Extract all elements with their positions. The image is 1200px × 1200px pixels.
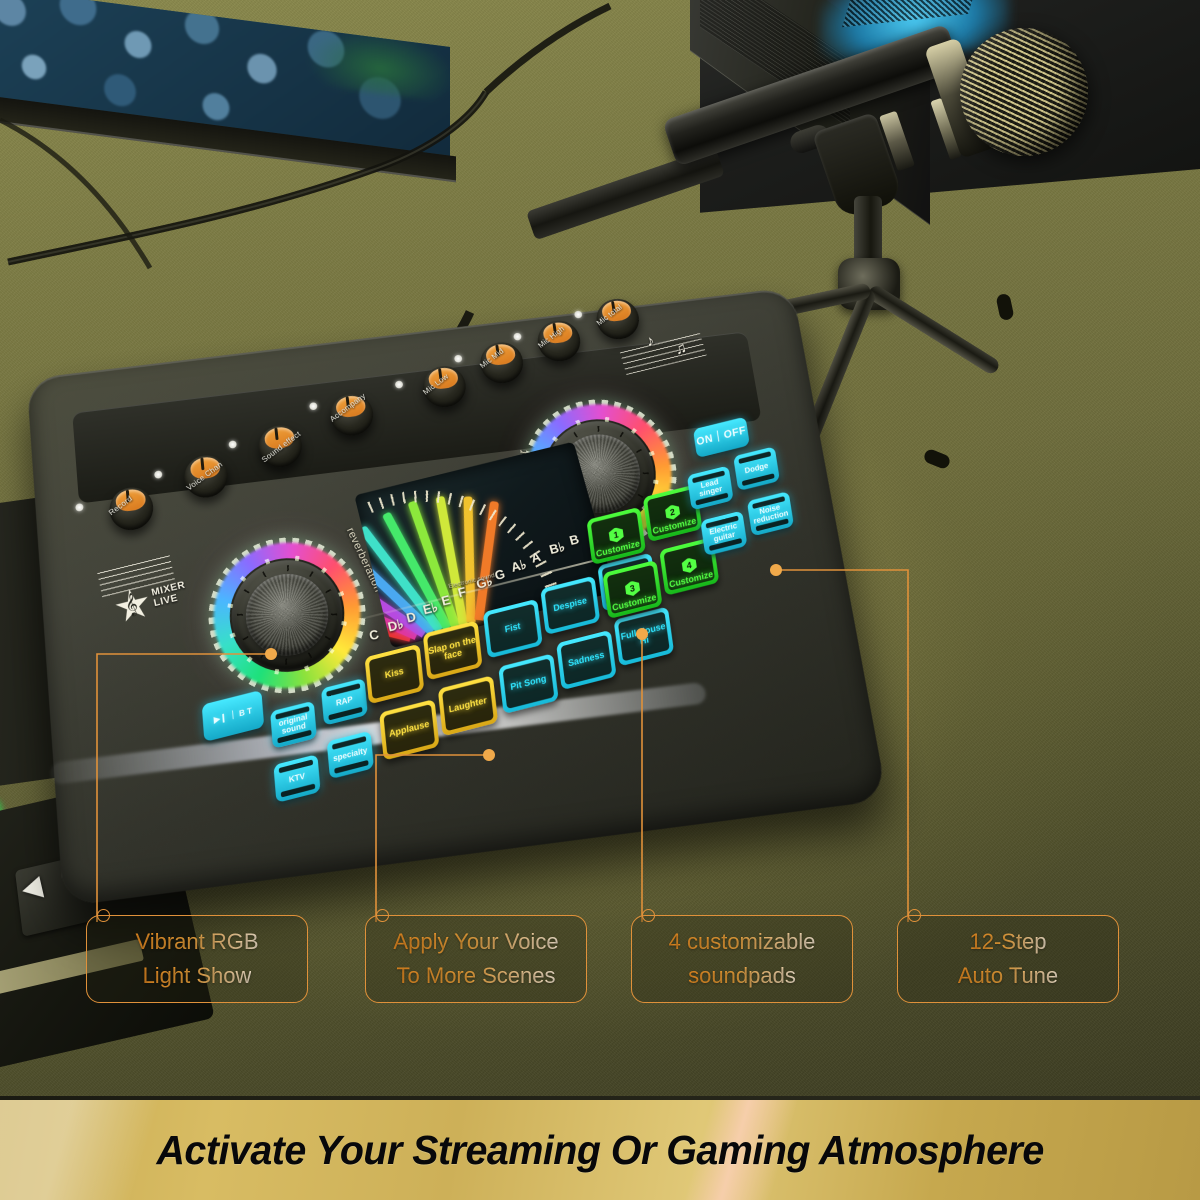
note-label: D♭	[386, 616, 405, 635]
callout-line1: Apply Your Voice	[393, 929, 558, 955]
note-label: E♭	[421, 599, 439, 618]
button-ktv[interactable]: KTV	[273, 754, 320, 803]
mixer-control-surface: Record Voice Chan Sound effect Accompany	[27, 287, 888, 907]
button-slot	[279, 759, 313, 773]
button-noise-reduction[interactable]: Noise reduction	[747, 491, 794, 536]
tripod-foot-2	[922, 448, 951, 471]
callout-anchor	[97, 909, 110, 922]
note-label: D	[405, 609, 418, 626]
tripod-foot-3	[995, 293, 1014, 321]
callout-vibrant-rgb: Vibrant RGB Light Show	[86, 915, 308, 1003]
button-label: KTV	[289, 772, 306, 785]
callout-anchor	[908, 909, 921, 922]
button-label: Dodge	[744, 462, 769, 476]
note-label: A	[529, 549, 542, 566]
button-label: ON｜OFF	[696, 426, 747, 449]
treble-clef-icon: 𝄞	[123, 594, 139, 616]
note-label: E	[440, 592, 452, 609]
callout-line1: 12-Step	[969, 929, 1046, 955]
button-slot	[328, 707, 362, 721]
callout-auto-tune: 12-Step Auto Tune	[897, 915, 1119, 1003]
button-dodge[interactable]: Dodge	[733, 446, 780, 491]
callout-anchor	[642, 909, 655, 922]
button-slot	[326, 683, 360, 697]
callout-customizable-soundpads: 4 customizable soundpads	[631, 915, 853, 1003]
knob-led-record	[75, 503, 83, 512]
callout-line1: Vibrant RGB	[135, 929, 258, 955]
button-original-sound[interactable]: original sound	[270, 701, 317, 749]
button-specialty[interactable]: specialty	[327, 731, 374, 780]
soundpad-laughter[interactable]: Laughter	[438, 675, 498, 736]
button-electric-guitar[interactable]: Electric guitar	[700, 510, 747, 556]
callout-line1: 4 customizable	[669, 929, 816, 955]
note-label: B♭	[548, 539, 567, 558]
bottom-banner: Activate Your Streaming Or Gaming Atmosp…	[0, 1100, 1200, 1200]
button-lead-singer[interactable]: Lead singer	[687, 465, 734, 510]
callout-anchor	[376, 909, 389, 922]
banner-title: Activate Your Streaming Or Gaming Atmosp…	[156, 1127, 1043, 1174]
live-sound-card-mixer: Record Voice Chan Sound effect Accompany	[44, 318, 844, 848]
button-slot	[281, 784, 316, 798]
product-marketing-image: Record Voice Chan Sound effect Accompany	[0, 0, 1200, 1200]
callout-line2: To More Scenes	[397, 963, 556, 989]
brand-name: MIXER LIVE	[151, 580, 189, 609]
button-label: RAP	[336, 695, 354, 708]
callout-line2: Light Show	[143, 963, 252, 989]
callout-line2: soundpads	[688, 963, 796, 989]
knob-led-mic-mid	[454, 355, 463, 363]
soundpad-applause[interactable]: Applause	[379, 699, 439, 761]
knob-led-mic-high	[513, 333, 522, 341]
knob-led-mic-total	[574, 310, 583, 318]
soundpad-sadness[interactable]: Sadness	[556, 630, 617, 690]
note-label: A♭	[509, 557, 528, 576]
callout-apply-your-voice: Apply Your Voice To More Scenes	[365, 915, 587, 1003]
callout-line2: Auto Tune	[958, 963, 1058, 989]
soundpad-pit-song[interactable]: Pit Song	[498, 653, 559, 714]
tripod-leg-1	[866, 283, 1002, 376]
button-label: ▶❙ ｜ B T	[214, 707, 253, 725]
